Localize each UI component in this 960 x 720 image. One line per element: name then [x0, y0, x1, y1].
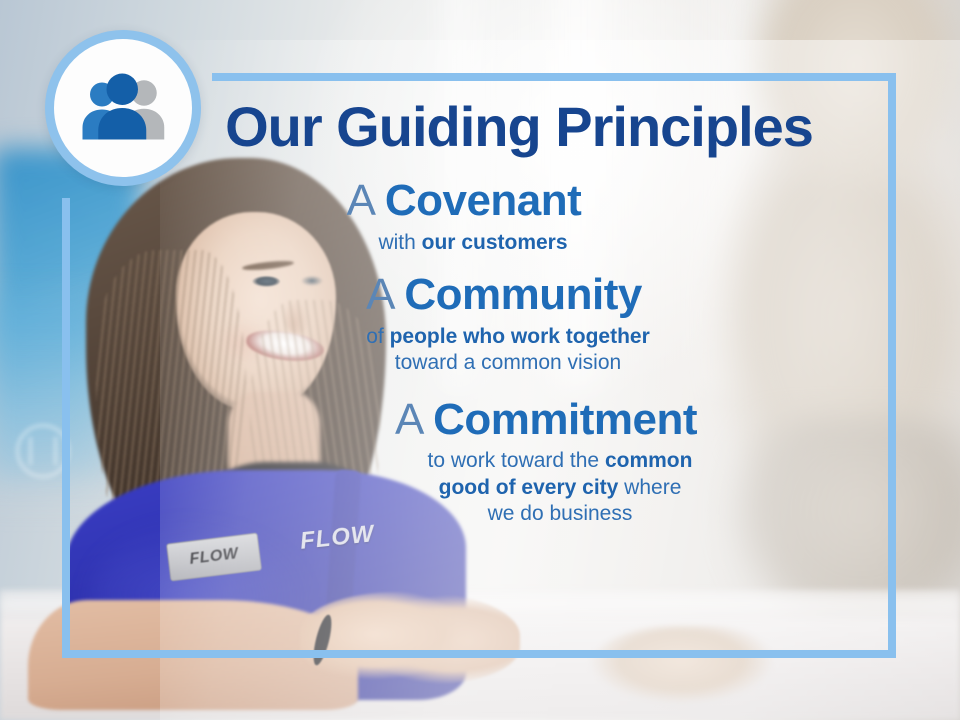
- principle-subtext-line: toward a common vision: [112, 350, 904, 376]
- principle-title: A Community: [108, 272, 900, 319]
- principle-subtext-plain: of: [366, 325, 389, 348]
- principles-list: A Covenant with our customers A Communit…: [78, 178, 928, 542]
- customer-hand: [590, 626, 780, 712]
- principle-subtext-emphasis: common: [605, 449, 693, 472]
- principle-title: A Commitment: [150, 397, 942, 444]
- principle-keyword: Covenant: [385, 176, 581, 225]
- principle-keyword: Commitment: [433, 395, 697, 444]
- principle-article: A: [395, 395, 421, 444]
- principle-subtext-plain: to work toward the: [428, 449, 605, 472]
- principle-subtext-line: good of every city where: [164, 475, 956, 501]
- principle-subtext: to work toward the common good of every …: [164, 448, 956, 527]
- principle-subtext: with our customers: [77, 230, 869, 256]
- principle-commitment: A Commitment to work toward the common g…: [78, 397, 870, 528]
- promo-graphic: FLOW FLOW Our Guiding Principles A: [0, 0, 960, 720]
- principle-article: A: [366, 270, 392, 319]
- frame-border-bottom: [62, 650, 896, 658]
- principle-subtext-line: of people who work together: [112, 324, 904, 350]
- principle-keyword: Community: [404, 270, 642, 319]
- principle-community: A Community of people who work together …: [78, 272, 870, 377]
- frame-border-top: [212, 73, 896, 81]
- principle-subtext-line: with: [378, 231, 421, 254]
- principle-subtext-plain: where: [618, 476, 681, 499]
- employee-clasped-hands: [300, 592, 520, 684]
- principle-subtext-emphasis: people who work together: [390, 325, 650, 348]
- principle-covenant: A Covenant with our customers: [78, 178, 870, 256]
- principle-subtext-line: we do business: [164, 501, 956, 527]
- page-title: Our Guiding Principles: [0, 98, 960, 155]
- principle-subtext-line: to work toward the common: [164, 448, 956, 474]
- principle-subtext-emphasis: good of every city: [439, 476, 619, 499]
- principle-subtext: of people who work together toward a com…: [112, 324, 904, 377]
- name-badge-text: FLOW: [189, 545, 240, 569]
- principle-subtext-emphasis: our customers: [422, 231, 568, 254]
- principle-article: A: [347, 176, 373, 225]
- frame-border-left: [62, 198, 70, 658]
- principle-title: A Covenant: [68, 178, 860, 225]
